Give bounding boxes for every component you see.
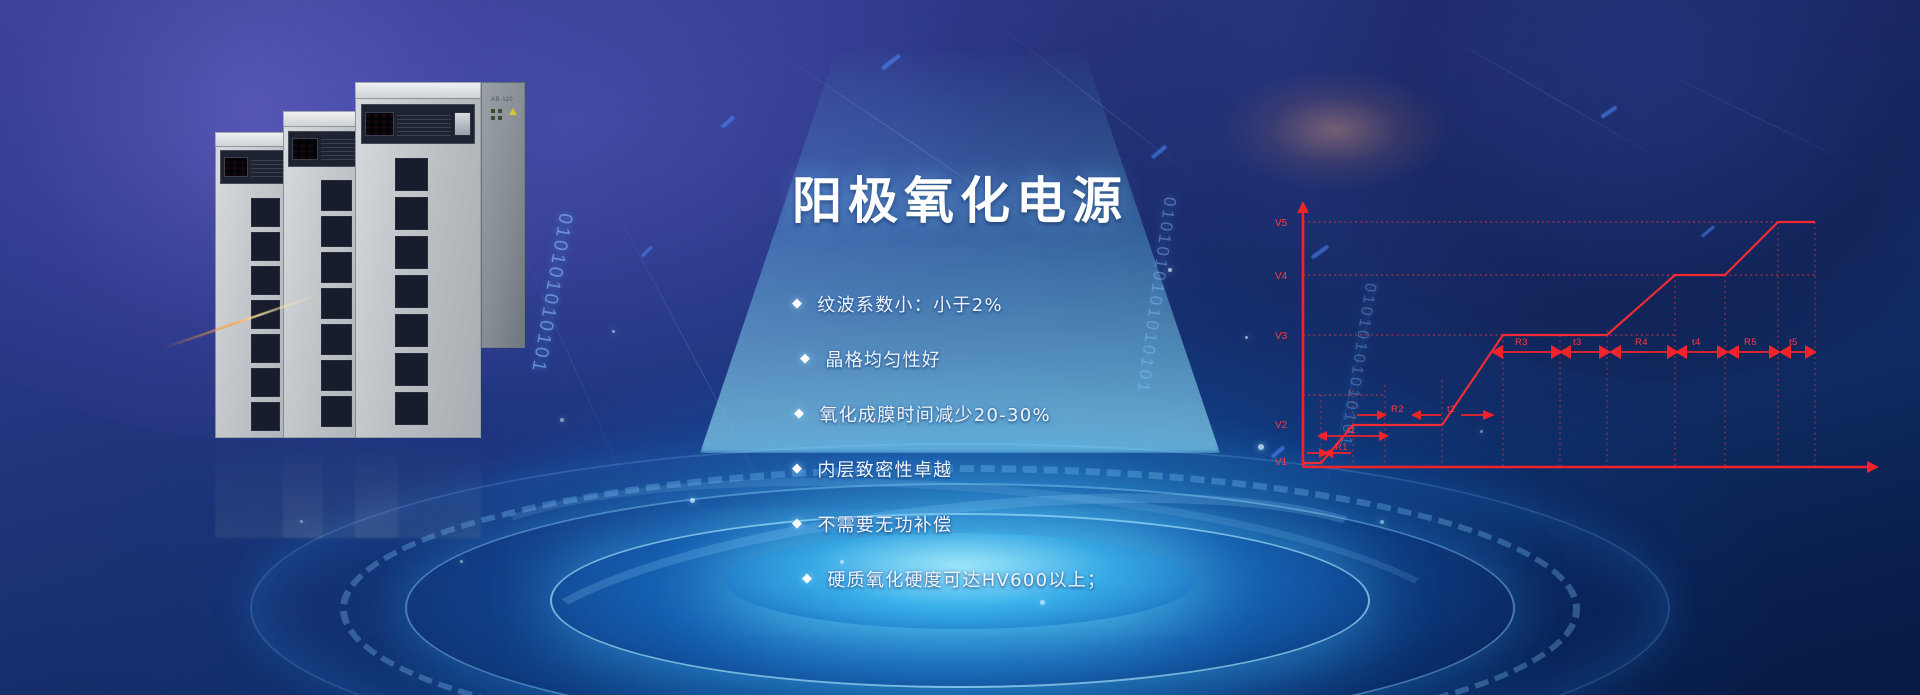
particle: [690, 498, 695, 503]
shard: [721, 115, 736, 129]
shard: [1600, 105, 1617, 118]
feature-text: 硬质氧化硬度可达HV600以上；: [827, 566, 1106, 592]
feature-text: 不需要无功补偿: [817, 511, 952, 537]
diamond-bullet-icon: ◆: [800, 351, 811, 366]
svg-text:t5: t5: [1789, 337, 1798, 348]
svg-text:t4: t4: [1692, 337, 1701, 348]
cabinet-control-panel[interactable]: [361, 104, 475, 144]
list-item: ◆ 内层致密性卓越: [792, 441, 1512, 496]
meter-icon: [454, 112, 471, 137]
cabinet-side-face: AB-110: [481, 82, 525, 348]
warning-triangle-icon: [509, 108, 517, 115]
diamond-bullet-icon: ◆: [792, 461, 803, 476]
shard: [1151, 145, 1167, 160]
feature-text: 晶格均匀性好: [825, 346, 941, 372]
lens-flare-icon: [1220, 70, 1450, 190]
diamond-bullet-icon: ◆: [794, 406, 805, 421]
power-cabinet-group: AB-110: [205, 98, 595, 438]
power-cabinet-front: [355, 98, 481, 438]
diamond-bullet-icon: ◆: [802, 571, 813, 586]
label-plate: [397, 112, 451, 137]
keypad-icon: [224, 157, 248, 177]
particle: [460, 560, 463, 563]
feature-list: ◆ 纹波系数小：小于2% ◆ 晶格均匀性好 ◆ 氧化成膜时间减少20-30% ◆…: [792, 276, 1512, 606]
list-item: ◆ 氧化成膜时间减少20-30%: [792, 386, 1512, 441]
svg-text:t3: t3: [1573, 337, 1582, 348]
feature-text: 内层致密性卓越: [817, 456, 952, 482]
particle: [612, 330, 615, 333]
svg-text:R3: R3: [1515, 337, 1528, 348]
diamond-bullet-icon: ◆: [792, 296, 803, 311]
list-item: ◆ 纹波系数小：小于2%: [792, 276, 1512, 331]
page-title: 阳极氧化电源: [792, 174, 1512, 229]
svg-text:R5: R5: [1744, 337, 1757, 348]
particle: [300, 520, 303, 523]
feature-text: 氧化成膜时间减少20-30%: [819, 401, 1051, 427]
banner-content: 阳极氧化电源 ◆ 纹波系数小：小于2% ◆ 晶格均匀性好 ◆ 氧化成膜时间减少2…: [792, 174, 1512, 606]
diamond-bullet-icon: ◆: [792, 516, 803, 531]
keypad-icon: [365, 112, 394, 137]
product-banner: AB-110 010101010101 0101010101010101 010…: [0, 0, 1920, 695]
streak-line: [1640, 60, 1874, 175]
shard: [641, 245, 653, 257]
list-item: ◆ 晶格均匀性好: [792, 331, 1512, 386]
list-item: ◆ 不需要无功补偿: [792, 496, 1512, 551]
keypad-icon: [292, 138, 318, 160]
svg-text:R4: R4: [1635, 337, 1648, 348]
particle: [560, 418, 564, 422]
streak-line: [1420, 20, 1680, 171]
feature-text: 纹波系数小：小于2%: [817, 291, 1003, 317]
list-item: ◆ 硬质氧化硬度可达HV600以上；: [792, 551, 1512, 606]
